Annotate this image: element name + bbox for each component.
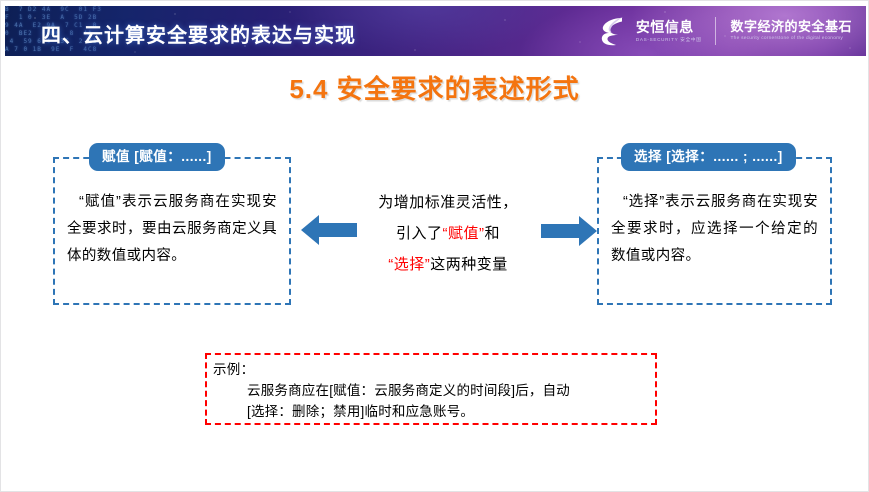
logo-slogan-block: 数字经济的安全基石 The security cornerstone of th… [730,19,852,43]
assignment-box-body: “赋值”表示云服务商在实现安全要求时，要由云服务商定义具体的数值或内容。 [67,189,277,270]
section-title: 四、云计算安全要求的表达与实现 [41,19,356,48]
selection-body-line-1: “选择”表示云服务 [623,194,742,210]
assignment-box-tab-label: 赋值 [赋值：......] [89,143,225,171]
middle-line-3-highlight: “选择” [388,256,430,273]
assignment-body-line-1: “赋值”表示云服务 [79,194,200,210]
middle-line-2-highlight: “赋值” [443,225,485,242]
slide-canvas: B 7 D2 4A 9C 01 F3 F 1 0 3E A 5D 2B 9 4A… [0,0,869,492]
assignment-body-line-3: 要由云服务商定义具 [142,221,277,237]
arrow-right-icon [541,215,597,247]
middle-line-3: “选择”这两种变量 [353,249,543,280]
example-label: 示例： [213,360,647,379]
assignment-body-line-4: 体的数值或内容。 [67,248,186,264]
company-logo: 安恒信息 DAS-SECURITY 安全中国 数字经济的安全基石 The sec… [598,13,852,49]
middle-line-2-prefix: 引入了 [396,225,443,242]
logo-brand-block: 安恒信息 DAS-SECURITY 安全中国 [636,20,702,43]
page-title: 5.4 安全要求的表述形式 [1,69,868,106]
selection-box-tab-label: 选择 [选择：...... ; ......] [621,143,796,171]
middle-line-1: 为增加标准灵活性， [353,187,543,218]
selection-body-line-4: 值或内容。 [626,248,701,264]
logo-slogan-cn: 数字经济的安全基石 [730,19,852,34]
logo-divider [715,17,716,45]
example-body-line-1: 云服务商应在[赋值：云服务商定义的时间段]后，自动 [247,380,647,401]
logo-brand-en: DAS-SECURITY 安全中国 [636,36,702,43]
example-callout-box: 示例： 云服务商应在[赋值：云服务商定义的时间段]后，自动 [选择：删除；禁用]… [205,353,657,425]
middle-line-2-suffix: 和 [485,225,501,242]
arrow-left-icon [301,213,357,247]
selection-concept-box: 选择 [选择：...... ; ......] “选择”表示云服务商在实现安全要… [597,157,832,305]
middle-line-3-suffix: 这两种变量 [430,256,508,273]
assignment-concept-box: 赋值 [赋值：......] “赋值”表示云服务商在实现安全要求时，要由云服务商… [53,157,291,305]
example-body: 云服务商应在[赋值：云服务商定义的时间段]后，自动 [选择：删除；禁用]临时和应… [247,380,647,422]
middle-line-2: 引入了“赋值”和 [353,218,543,249]
slide-header-banner: B 7 D2 4A 9C 01 F3 F 1 0 3E A 5D 2B 9 4A… [5,6,866,56]
dbapp-swirl-logo-icon [598,15,628,47]
logo-brand-cn: 安恒信息 [636,20,702,35]
logo-slogan-en: The security cornerstone of the digital … [730,35,852,43]
middle-explanation-text: 为增加标准灵活性， 引入了“赋值”和 “选择”这两种变量 [353,187,543,280]
selection-box-body: “选择”表示云服务商在实现安全要求时，应选择一个给定的数值或内容。 [611,189,818,270]
example-body-line-2: [选择：删除；禁用]临时和应急账号。 [247,401,647,422]
